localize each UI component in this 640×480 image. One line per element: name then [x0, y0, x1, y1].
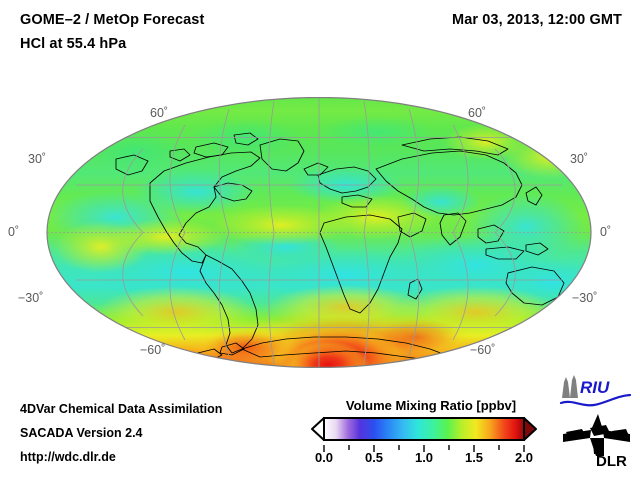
lat-label-left-m30: −30˚	[18, 291, 43, 305]
lat-label-right-m30: −30˚	[572, 291, 597, 305]
colorbar-tick-labels: 0.0 0.5 1.0 1.5 2.0	[288, 450, 560, 468]
colorbar-tick-3: 1.5	[465, 450, 483, 465]
lat-label-right-0: 0˚	[600, 225, 611, 239]
footer-line-url[interactable]: http://wdc.dlr.de	[20, 450, 116, 464]
header-datetime: Mar 03, 2013, 12:00 GMT	[452, 12, 622, 28]
colorbar-tick-4: 2.0	[515, 450, 533, 465]
visualization-canvas: GOME–2 / MetOp Forecast HCl at 55.4 hPa …	[0, 0, 640, 480]
colorbar-title: Volume Mixing Ratio [ppbv]	[331, 398, 531, 413]
header-instrument-line: GOME–2 / MetOp Forecast	[20, 12, 204, 28]
riu-wordmark: RIU	[580, 378, 610, 397]
dlr-propeller-icon	[563, 414, 630, 456]
dlr-wordmark: DLR	[596, 453, 627, 470]
colorbar	[308, 416, 540, 442]
riu-logo: RIU	[558, 374, 634, 408]
lat-label-right-m60: −60˚	[470, 343, 495, 357]
footer-line-version: SACADA Version 2.4	[20, 426, 143, 440]
colorbar-tick-2: 1.0	[415, 450, 433, 465]
lat-label-left-60: 60˚	[150, 106, 168, 120]
lat-label-right-30: 30˚	[570, 152, 588, 166]
lat-label-left-m60: −60˚	[140, 343, 165, 357]
header-species-line: HCl at 55.4 hPa	[20, 36, 126, 52]
lat-label-left-30: 30˚	[28, 152, 46, 166]
riu-tower-icon	[562, 375, 578, 398]
colorbar-tick-0: 0.0	[315, 450, 333, 465]
lat-label-left-0: 0˚	[8, 225, 19, 239]
dlr-logo: DLR	[560, 412, 634, 470]
footer-line-method: 4DVar Chemical Data Assimilation	[20, 402, 222, 416]
map-plot	[46, 97, 592, 368]
colorbar-tick-1: 0.5	[365, 450, 383, 465]
lat-label-right-60: 60˚	[468, 106, 486, 120]
